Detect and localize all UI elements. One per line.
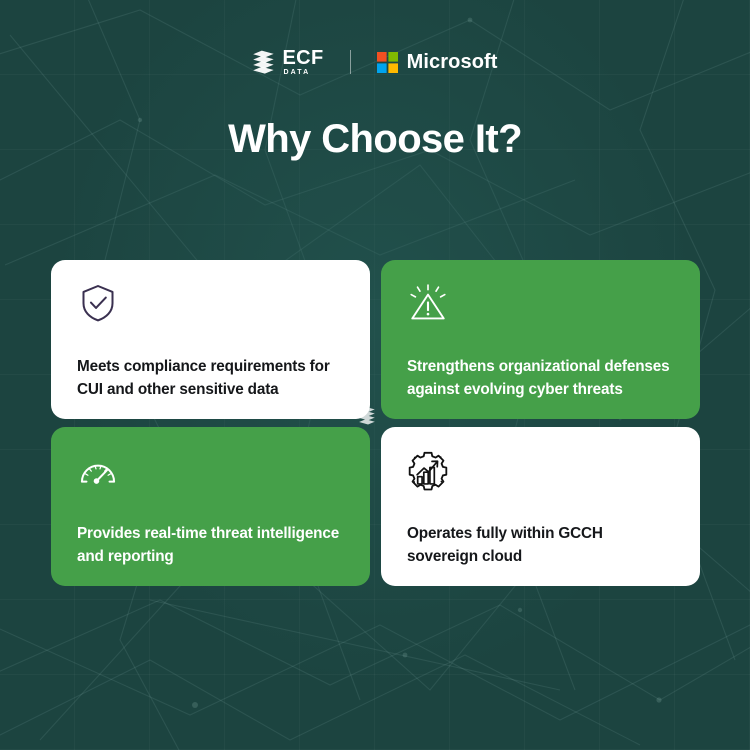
gear-bar-chart-growth-icon bbox=[407, 449, 449, 491]
benefit-card-text: Meets compliance requirements for CUI an… bbox=[77, 356, 348, 401]
microsoft-four-squares-logo-icon bbox=[377, 52, 398, 73]
ecf-stacked-layers-logo-icon bbox=[252, 50, 275, 75]
warning-triangle-alert-icon bbox=[407, 282, 449, 324]
page-title: Why Choose It? bbox=[0, 117, 750, 162]
ecf-logo-subtitle: DATA bbox=[283, 69, 310, 76]
brand-bar: ECF DATA Microsoft bbox=[0, 44, 750, 80]
gauge-speedometer-icon bbox=[77, 449, 119, 491]
microsoft-logo: Microsoft bbox=[377, 51, 498, 74]
shield-check-icon bbox=[77, 282, 119, 324]
ecf-logo-name: ECF bbox=[282, 48, 323, 68]
benefit-card-defenses[interactable]: Strengthens organizational defenses agai… bbox=[381, 260, 700, 419]
poster-canvas: ECF DATA Microsoft Why Choose It? Meets … bbox=[0, 0, 750, 750]
benefit-card-gcch-cloud[interactable]: Operates fully within GCCH sovereign clo… bbox=[381, 427, 700, 586]
brand-separator bbox=[350, 50, 351, 74]
benefit-card-text: Provides real-time threat intelligence a… bbox=[77, 523, 348, 568]
benefit-card-text: Operates fully within GCCH sovereign clo… bbox=[407, 523, 678, 568]
benefit-card-compliance[interactable]: Meets compliance requirements for CUI an… bbox=[51, 260, 370, 419]
benefit-card-text: Strengthens organizational defenses agai… bbox=[407, 356, 678, 401]
benefit-card-threat-intel[interactable]: Provides real-time threat intelligence a… bbox=[51, 427, 370, 586]
center-ecf-watermark-icon bbox=[358, 407, 376, 426]
microsoft-logo-name: Microsoft bbox=[407, 51, 498, 74]
ecf-data-logo: ECF DATA bbox=[252, 48, 323, 76]
